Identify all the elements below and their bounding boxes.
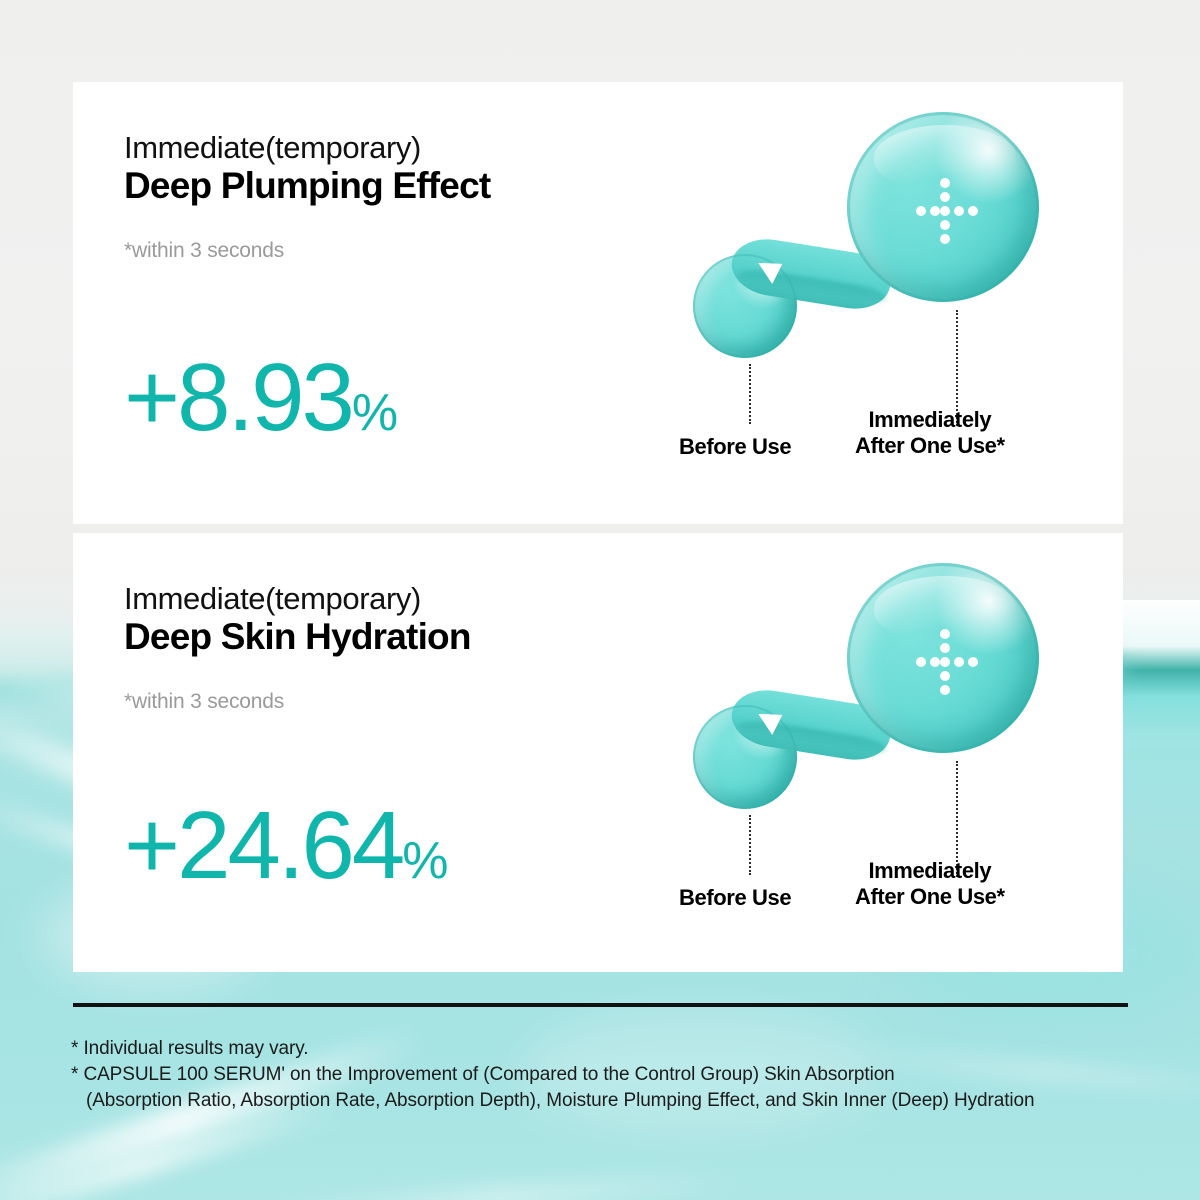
label-before-use: Before Use — [679, 434, 791, 460]
leader-line-before — [749, 364, 753, 424]
label-after-use: Immediately After One Use* — [855, 407, 1005, 459]
footer-divider — [73, 1003, 1128, 1007]
card-subnote: *within 3 seconds — [124, 239, 284, 263]
label-after-use: Immediately After One Use* — [855, 858, 1005, 910]
footnote-line-2: * CAPSULE 100 SERUM' on the Improvement … — [71, 1062, 1151, 1088]
benefit-card-plumping: Immediate(temporary) Deep Plumping Effec… — [73, 82, 1123, 524]
stat-number: +24.64 — [124, 792, 402, 899]
leader-line-before — [749, 815, 753, 875]
droplet-figure: Before Use Immediately After One Use* — [671, 533, 1101, 972]
infographic-stage: Immediate(temporary) Deep Plumping Effec… — [0, 0, 1200, 1200]
stat-percent-symbol: % — [402, 832, 447, 890]
label-after-use-line2: After One Use* — [855, 884, 1005, 910]
label-after-use-line1: Immediately — [855, 858, 1005, 884]
card-headline: Deep Skin Hydration — [124, 617, 471, 658]
stat-value: +8.93% — [124, 350, 397, 446]
card-text-column: Immediate(temporary) Deep Plumping Effec… — [124, 82, 684, 524]
footnote-line-3: (Absorption Ratio, Absorption Rate, Abso… — [71, 1088, 1151, 1114]
benefit-card-hydration: Immediate(temporary) Deep Skin Hydration… — [73, 533, 1123, 972]
card-eyebrow: Immediate(temporary) — [124, 131, 421, 164]
footnote-line-1: * Individual results may vary. — [71, 1036, 1151, 1062]
card-headline: Deep Plumping Effect — [124, 166, 490, 207]
droplet-figure: Before Use Immediately After One Use* — [671, 82, 1101, 524]
footnotes: * Individual results may vary. * CAPSULE… — [71, 1036, 1151, 1114]
label-after-use-line2: After One Use* — [855, 433, 1005, 459]
label-after-use-line1: Immediately — [855, 407, 1005, 433]
stat-percent-symbol: % — [352, 384, 397, 442]
hydration-plus-dots-icon — [916, 178, 974, 236]
hydration-plus-dots-icon — [916, 629, 974, 687]
card-text-column: Immediate(temporary) Deep Skin Hydration… — [124, 533, 684, 972]
card-subnote: *within 3 seconds — [124, 690, 284, 714]
label-before-use: Before Use — [679, 885, 791, 911]
card-eyebrow: Immediate(temporary) — [124, 582, 421, 615]
stat-number: +8.93 — [124, 344, 352, 451]
stat-value: +24.64% — [124, 798, 448, 894]
